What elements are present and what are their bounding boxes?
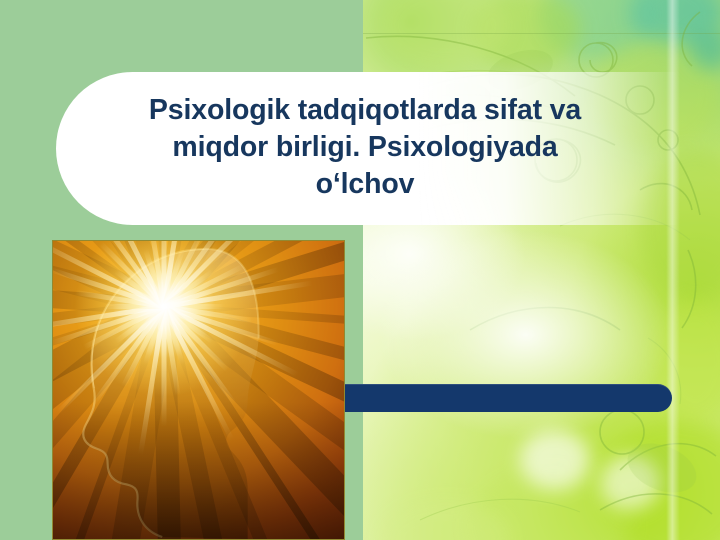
picture-bottom-shadow <box>53 402 344 539</box>
navy-accent-bar <box>345 384 672 412</box>
presentation-slide: Psixologik tadqiqotlarda sifat va miqdor… <box>0 0 720 540</box>
slide-title: Psixologik tadqiqotlarda sifat va miqdor… <box>70 92 660 203</box>
head-silhouette-image <box>52 240 345 540</box>
